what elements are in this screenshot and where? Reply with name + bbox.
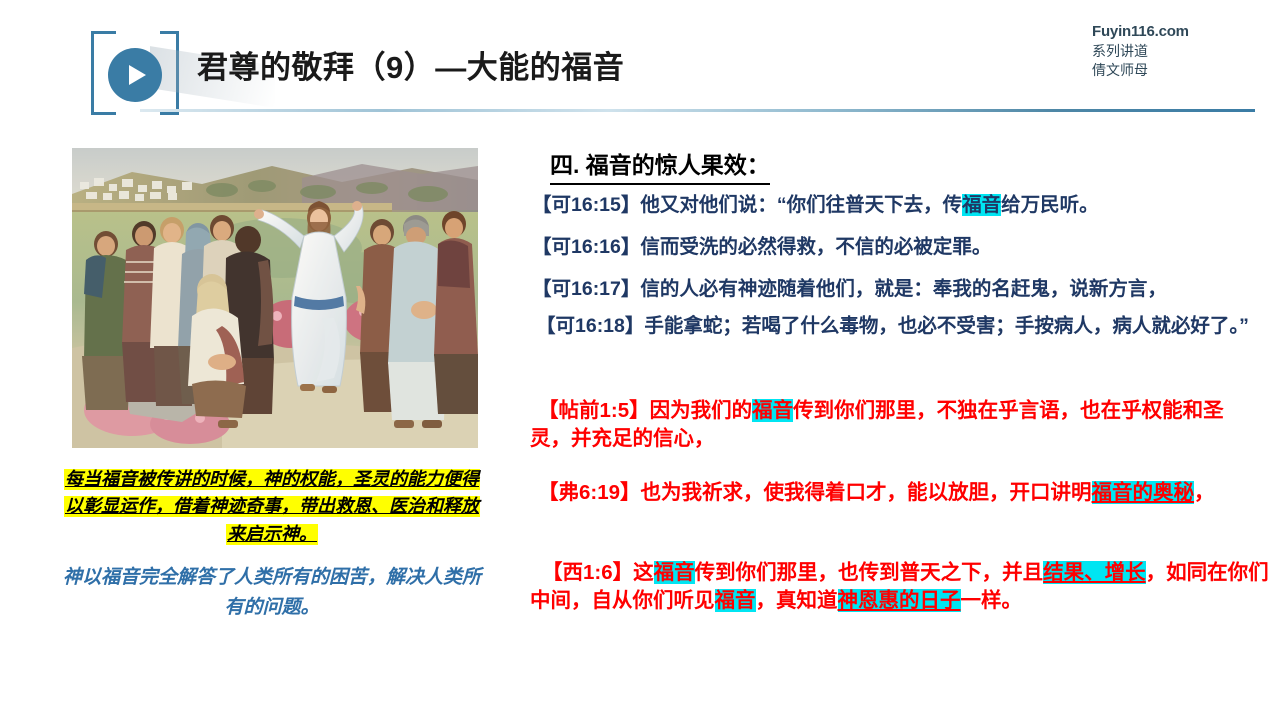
cyan-highlight: 福音 (752, 399, 793, 422)
verse-1thess-1-5: 【帖前1:5】因为我们的福音传到你们那里，不独在乎言语，也在乎权能和圣灵，并充足… (530, 397, 1260, 454)
verse-text: 信而受洗的必然得救，不信的必被定罪。 (640, 236, 991, 258)
verse-text: 一样。 (961, 589, 1023, 612)
yellow-note-text: 每当福音被传讲的时候，神的权能，圣灵的能力便得以彰显运作，借着神迹奇事，带出救恩… (64, 469, 480, 545)
verse-text: 【可16:18】 (536, 315, 644, 337)
great-commission-painting (72, 148, 478, 448)
verse-text: 因为我们的 (650, 399, 753, 422)
verse-col-1-6: 【西1:6】这福音传到你们那里，也传到普天之下，并且结果、增长，如同在你们中间，… (530, 559, 1270, 616)
verse-mark-16-17: 【可16:17】信的人必有神迹随着他们，就是：奉我的名赶鬼，说新方言， (532, 276, 1262, 303)
verse-eph-6-19: 【弗6:19】也为我祈求，使我得着口才，能以放胆，开口讲明福音的奥秘， (530, 479, 1260, 507)
slide-canvas: 君尊的敬拜（9）—大能的福音 Fuyin116.com 系列讲道 倩文师母 (0, 0, 1280, 720)
section-heading: 四. 福音的惊人果效： (550, 146, 770, 185)
verse-mark-16-15: 【可16:15】他又对他们说：“你们往普天下去，传福音给万民听。 (532, 192, 1252, 219)
cyan-highlight: 福音 (715, 589, 756, 612)
brand-block: Fuyin116.com 系列讲道 倩文师母 (1092, 22, 1252, 80)
blue-note: 神以福音完全解答了人类所有的困苦，解决人类所有的问题。 (62, 562, 482, 623)
verse-text: 也为我祈求，使我得着口才，能以放胆，开口讲明 (641, 481, 1092, 504)
verse-text: 传到你们那里，也传到普天之下，并且 (695, 561, 1044, 584)
verse-text: 【弗6:19】 (538, 481, 641, 504)
brand-speaker: 倩文师母 (1092, 61, 1252, 80)
verse-text: 【西1:6】 (542, 561, 633, 584)
verse-text: 【可16:16】 (532, 236, 640, 258)
verse-text: ，真知道 (756, 589, 838, 612)
cyan-underline-highlight: 结果、增长 (1043, 561, 1146, 584)
page-title: 君尊的敬拜（9）—大能的福音 (197, 42, 624, 87)
yellow-highlight-note: 每当福音被传讲的时候，神的权能，圣灵的能力便得以彰显运作，借着神迹奇事，带出救恩… (62, 466, 482, 548)
verse-text: 他又对他们说：“你们往普天下去，传 (640, 194, 962, 216)
verse-mark-16-16: 【可16:16】信而受洗的必然得救，不信的必被定罪。 (532, 234, 1252, 261)
play-icon (108, 48, 162, 102)
verse-text: 给万民听。 (1001, 194, 1099, 216)
verse-text: 【帖前1:5】 (538, 399, 650, 422)
verse-mark-16-18: 【可16:18】手能拿蛇；若喝了什么毒物，也必不受害；手按病人，病人就必好了。” (536, 313, 1252, 340)
play-triangle (129, 65, 146, 85)
verse-text: ， (1194, 481, 1215, 504)
verse-text: 【可16:17】 (532, 278, 640, 300)
cyan-highlight: 福音 (962, 194, 1001, 216)
verse-text: 信的人必有神迹随着他们，就是：奉我的名赶鬼，说新方言， (640, 278, 1167, 300)
brand-site: Fuyin116.com (1092, 22, 1252, 42)
cyan-underline-highlight: 福音的奥秘 (1092, 481, 1195, 504)
painting-artwork (72, 148, 478, 448)
verse-text: 【可16:15】 (532, 194, 640, 216)
header-divider (140, 109, 1255, 112)
cyan-highlight: 福音 (654, 561, 695, 584)
verse-text: 手能拿蛇；若喝了什么毒物，也必不受害；手按病人，病人就必好了。” (644, 315, 1249, 337)
cyan-underline-highlight: 神恩惠的日子 (838, 589, 961, 612)
verse-text: 这 (633, 561, 654, 584)
brand-series: 系列讲道 (1092, 42, 1252, 61)
